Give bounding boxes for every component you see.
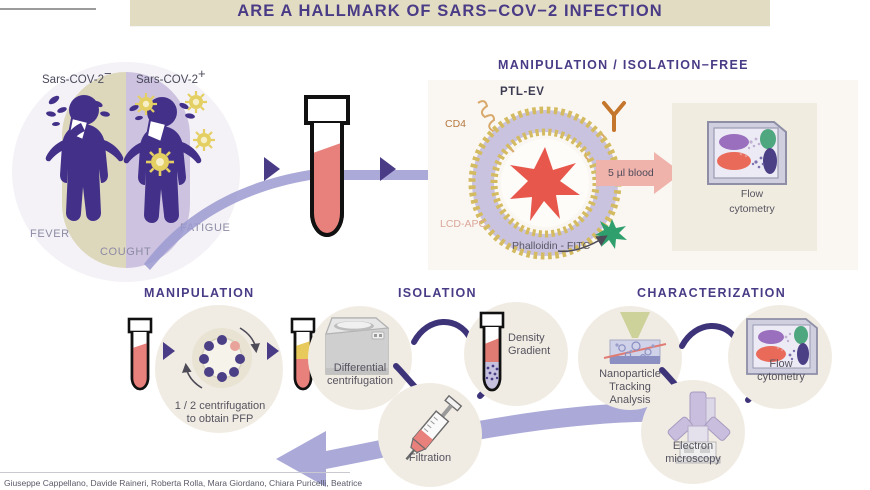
footer-divider — [0, 472, 350, 473]
author-list: Giuseppe Cappellano, Davide Raineri, Rob… — [4, 478, 362, 488]
density-gradient-tube-icon — [476, 312, 508, 396]
caption-differential-line2: centrifugation — [327, 375, 393, 387]
caption-em-line2: microscopy — [665, 453, 721, 465]
section-header-isolation: ISOLATION — [398, 286, 477, 300]
caption-flow-cytometry: Flow cytometry — [738, 358, 824, 384]
label-flow-top-line1: Flow — [722, 188, 782, 200]
page-title: ARE A HALLMARK OF SARS−COV−2 INFECTION — [237, 2, 663, 26]
caption-flow-line1: Flow — [769, 358, 792, 370]
caption-electron-microscopy: Electron microscopy — [638, 440, 748, 466]
caption-nta-line3: Analysis — [610, 394, 651, 406]
title-banner: ARE A HALLMARK OF SARS−COV−2 INFECTION — [130, 0, 770, 26]
caption-centrifugation-line1: 1 / 2 centrifugation — [175, 400, 266, 412]
label-fever: FEVER — [30, 228, 70, 240]
section-header-characterization: CHARACTERIZATION — [637, 286, 786, 300]
label-cough: COUGHT — [100, 246, 151, 258]
caption-density-line2: Gradient — [508, 345, 550, 357]
poster-canvas: ARE A HALLMARK OF SARS−COV−2 INFECTION S… — [0, 0, 870, 490]
label-ptl-ev: PTL-EV — [500, 86, 545, 98]
caption-centrifugation: 1 / 2 centrifugation to obtain PFP — [158, 400, 282, 426]
nta-instrument-icon — [598, 312, 668, 370]
arrow-manip-2-icon — [266, 341, 280, 361]
blood-sample-tube — [292, 95, 362, 245]
caption-density-line1: Density — [508, 332, 545, 344]
section-header-manipulation: MANIPULATION — [144, 286, 255, 300]
label-cd4: CD4 — [445, 118, 466, 130]
caption-flow-line2: cytometry — [757, 371, 805, 383]
top-divider — [0, 8, 96, 10]
caption-centrifugation-line2: to obtain PFP — [187, 413, 254, 425]
label-lcd-apc: LCD-APC — [440, 218, 486, 230]
person-negative-icon — [46, 94, 124, 221]
isolation-free-header: MANIPULATION / ISOLATION−FREE — [498, 58, 749, 72]
arrow-out-of-tube-icon — [378, 155, 398, 183]
antibody-y-icon — [604, 103, 624, 130]
label-flow-top-line2: cytometry — [706, 203, 798, 215]
flow-cytometry-plot-top — [704, 118, 790, 188]
centrifuge-rotor-icon — [182, 318, 262, 398]
caption-nta-line2: Tracking — [609, 381, 651, 393]
arrow-manip-1-icon — [162, 341, 176, 361]
caption-density-gradient: Density Gradient — [508, 332, 570, 358]
tube-input-manipulation — [125, 318, 155, 394]
caption-em-line1: Electron — [673, 440, 713, 452]
caption-nta-line1: Nanoparticle — [599, 368, 661, 380]
label-5ul-blood: 5 µl blood — [608, 167, 654, 179]
label-phalloidin-fitc: Phalloidin - FITC — [512, 240, 590, 252]
caption-differential-line1: Differential — [334, 362, 386, 374]
arrow-into-tube-icon — [262, 155, 282, 183]
caption-filtration: Filtration — [382, 452, 478, 465]
